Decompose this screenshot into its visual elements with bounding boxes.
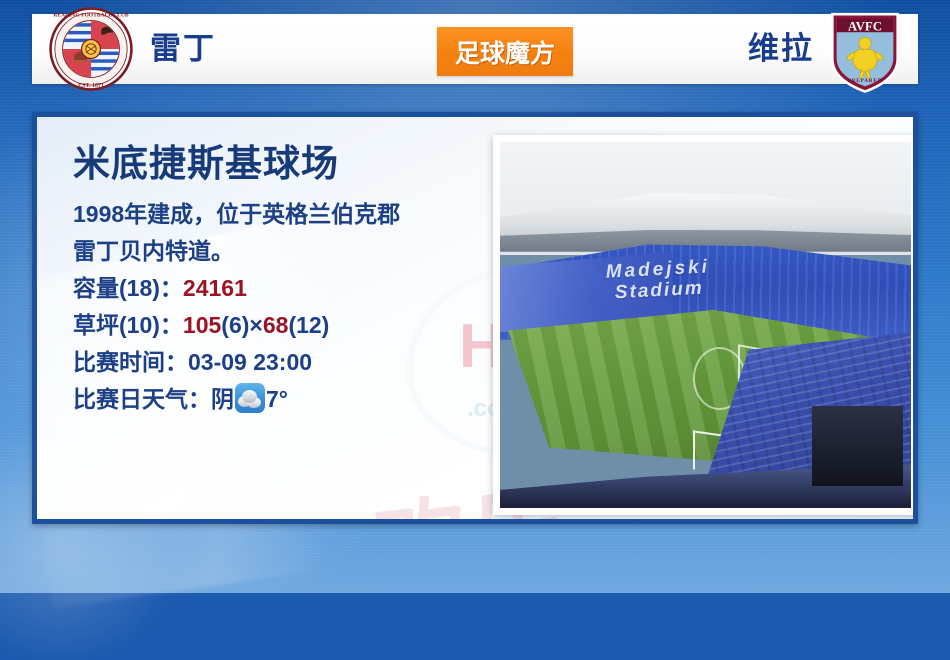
match-header-bar: READING FOOTBALL CLUB EST. 1871 雷丁 足球魔方 … — [32, 14, 918, 84]
away-team-name: 维拉 — [748, 14, 814, 84]
stadium-info-card: HH .com 欢乐 米底捷斯基球场 1998年建成，位于英格兰伯克郡 雷丁贝内… — [32, 112, 918, 524]
stadium-title: 米底捷斯基球场 — [73, 145, 493, 184]
reading-badge-top-text: READING FOOTBALL CLUB — [53, 12, 129, 18]
madejski-stadium-photo: Madejski Stadium — [500, 142, 911, 508]
match-time-label: 比赛时间： — [73, 349, 188, 375]
stadium-photo-frame[interactable]: Madejski Stadium — [493, 135, 918, 515]
pitch-length-rank: (6) — [221, 312, 249, 338]
site-logo-text: 足球魔方 — [455, 34, 555, 70]
capacity-row: 容量(18)：24161 — [73, 270, 493, 307]
pitch-length: 105 — [183, 312, 221, 338]
reading-fc-badge[interactable]: READING FOOTBALL CLUB EST. 1871 — [48, 6, 134, 92]
weather-row: 比赛日天气：阴7° — [73, 381, 493, 418]
pitch-size-row: 草坪(10)：105(6)×68(12) — [73, 307, 493, 344]
avfc-motto: PREPARED — [848, 78, 883, 84]
photo-tunnel — [812, 406, 902, 487]
avfc-initials: AVFC — [848, 20, 882, 34]
weather-temperature: 7° — [266, 386, 288, 412]
weather-condition: 阴 — [211, 386, 234, 412]
capacity-value: 24161 — [183, 275, 247, 301]
pitch-times-symbol: × — [249, 312, 262, 338]
home-team-name: 雷丁 — [150, 14, 216, 84]
pitch-label: 草坪(10)： — [73, 312, 183, 338]
match-time-row: 比赛时间：03-09 23:00 — [73, 344, 493, 381]
weather-label: 比赛日天气： — [73, 386, 211, 412]
reading-badge-est-text: EST. 1871 — [78, 83, 104, 89]
stadium-description-line-1: 1998年建成，位于英格兰伯克郡 — [73, 196, 493, 233]
aston-villa-badge[interactable]: AVFC PREPARED — [822, 6, 908, 92]
cloudy-weather-icon — [235, 383, 265, 413]
stadium-description-line-2: 雷丁贝内特道。 — [73, 233, 493, 270]
capacity-label: 容量(18)： — [73, 275, 183, 301]
match-time-value: 03-09 23:00 — [188, 349, 312, 375]
pitch-width-rank: (12) — [288, 312, 329, 338]
stadium-info-block: 米底捷斯基球场 1998年建成，位于英格兰伯克郡 雷丁贝内特道。 容量(18)：… — [73, 145, 493, 418]
site-logo[interactable]: 足球魔方 — [437, 27, 573, 76]
pitch-width: 68 — [263, 312, 289, 338]
